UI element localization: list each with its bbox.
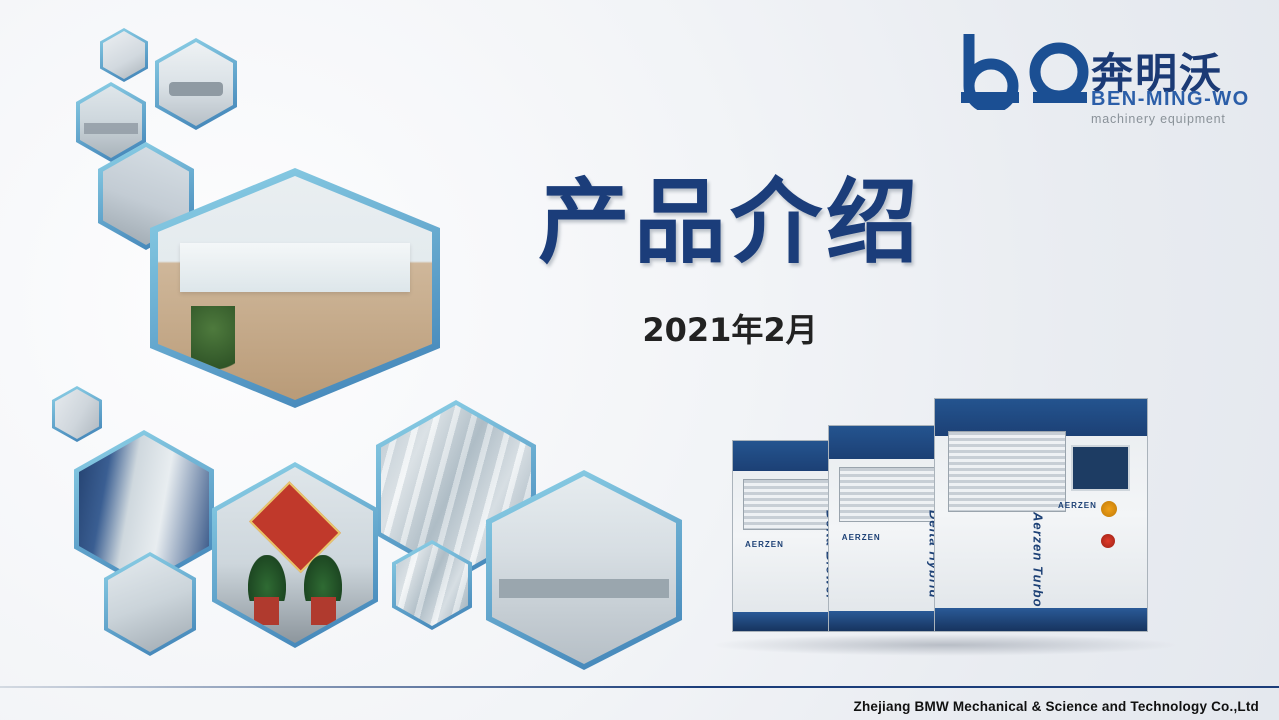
bo-logomark-icon — [951, 26, 1101, 110]
machine-model-label: Aerzen Turbo — [1030, 512, 1045, 608]
hex-frame-elevator-lobby — [100, 28, 148, 82]
photo-reception-lobby — [158, 176, 432, 400]
footer-company-name: Zhejiang BMW Mechanical & Science and Te… — [854, 699, 1260, 714]
photo-hexagon-cluster — [0, 0, 740, 700]
photo-entrance-door-newyear — [217, 467, 373, 643]
product-machines-image: AERZEN Delta Blower AERZEN Delta Hybrid … — [700, 385, 1190, 650]
machine-aerzen-turbo: AERZEN Aerzen Turbo — [934, 398, 1148, 632]
logo-tagline: machinery equipment — [1091, 112, 1226, 126]
machine-brand-label: AERZEN — [745, 540, 784, 549]
machine-brand-label: AERZEN — [842, 533, 881, 542]
machine-brand-label: AERZEN — [1058, 501, 1097, 510]
machine-control-screen — [1071, 445, 1130, 491]
hex-frame-server-cabinet — [52, 386, 102, 442]
hex-frame-entrance-door — [212, 462, 378, 648]
photo-open-office-small — [80, 86, 142, 158]
photo-stairwell — [108, 556, 192, 652]
footer-divider — [0, 686, 1279, 688]
company-logo: 奔明沃 BEN-MING-WO machinery equipment — [951, 22, 1251, 132]
machine-selector-knob — [1101, 501, 1117, 517]
machine-emergency-stop-button — [1101, 534, 1115, 548]
photo-meeting-room — [159, 42, 233, 126]
presentation-slide: 奔明沃 BEN-MING-WO machinery equipment 产品介绍… — [0, 0, 1279, 720]
photo-elevator-lobby — [103, 31, 145, 79]
logo-english-name: BEN-MING-WO — [1091, 88, 1250, 111]
machine-shadow — [710, 634, 1180, 656]
photo-open-plan-office — [492, 476, 676, 664]
photo-server-cabinet — [55, 389, 99, 439]
photo-equipment-panel — [396, 544, 468, 626]
hex-frame-meeting-room — [155, 38, 237, 130]
